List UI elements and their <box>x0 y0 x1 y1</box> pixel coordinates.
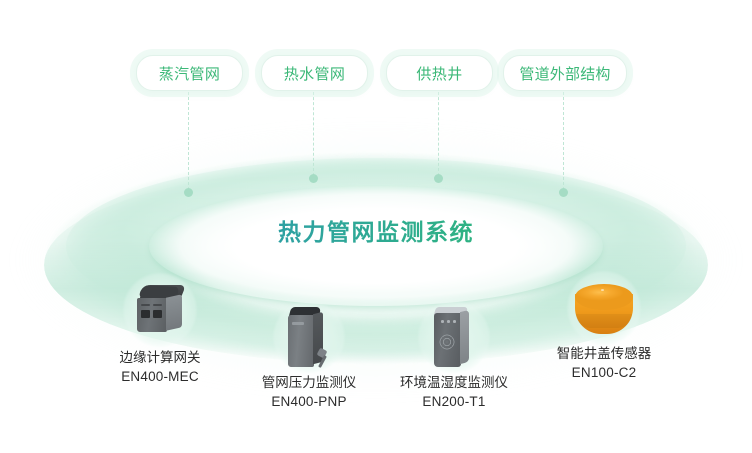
connector-dot-1 <box>184 188 193 197</box>
temperature-humidity-monitor-icon <box>432 307 476 369</box>
tag-pipeline-external-structure[interactable]: 管道外部结构 <box>503 55 627 91</box>
edge-gateway-cube-icon <box>135 285 187 335</box>
device-node-manhole-sensor[interactable] <box>566 270 642 346</box>
device-model-temp-humidity-monitor: EN200-T1 <box>354 392 554 411</box>
device-name-edge-gateway: 边缘计算网关 <box>60 348 260 367</box>
connector-dot-2 <box>309 174 318 183</box>
tag-heating-well-label: 供热井 <box>416 63 462 84</box>
connector-line-3 <box>438 92 439 176</box>
tag-hot-water-pipeline[interactable]: 热水管网 <box>261 55 368 91</box>
connector-dot-4 <box>559 188 568 197</box>
connector-line-4 <box>563 92 564 190</box>
device-node-pressure-monitor[interactable] <box>272 300 346 374</box>
device-name-manhole-sensor: 智能井盖传感器 <box>504 344 704 363</box>
tag-steam-pipeline[interactable]: 蒸汽管网 <box>136 55 243 91</box>
tag-heating-well[interactable]: 供热井 <box>386 55 493 91</box>
smart-manhole-cover-sensor-icon <box>575 284 633 336</box>
tag-pipeline-external-structure-label: 管道外部结构 <box>519 63 610 84</box>
connector-line-2 <box>313 92 314 176</box>
pressure-monitor-icon <box>286 307 330 369</box>
connector-dot-3 <box>434 174 443 183</box>
device-model-manhole-sensor: EN100-C2 <box>504 363 704 382</box>
connector-line-1 <box>188 92 189 190</box>
tag-hot-water-pipeline-label: 热水管网 <box>284 63 346 84</box>
tag-steam-pipeline-label: 蒸汽管网 <box>159 63 221 84</box>
device-label-manhole-sensor: 智能井盖传感器 EN100-C2 <box>504 344 704 382</box>
page-title: 热力管网监测系统 <box>0 213 752 247</box>
device-node-edge-gateway[interactable] <box>122 272 198 348</box>
diagram-canvas: 热力管网监测系统 蒸汽管网 热水管网 供热井 管道外部结构 <box>0 0 752 453</box>
device-node-temp-humidity-monitor[interactable] <box>417 300 491 374</box>
